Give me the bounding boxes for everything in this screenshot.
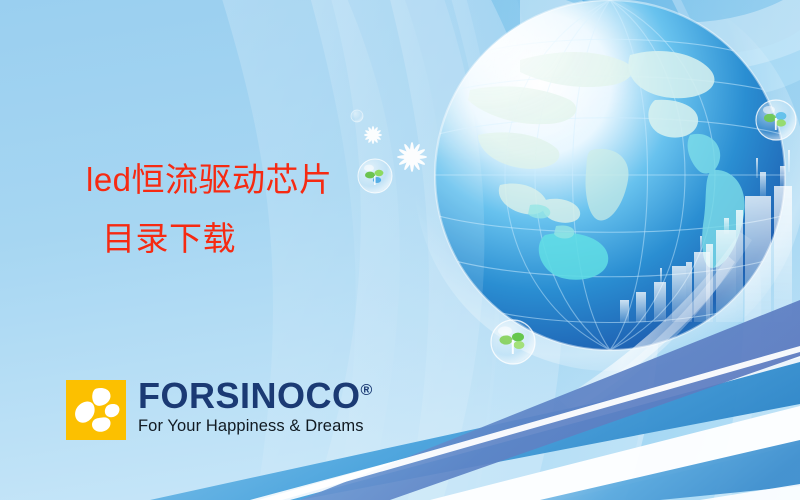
logo-wordmark: FORSINOCO® For Your Happiness & Dreams xyxy=(138,378,373,435)
brand-tagline: For Your Happiness & Dreams xyxy=(138,417,373,435)
bubble-tiny xyxy=(351,110,363,122)
four-petal-flower-icon xyxy=(66,380,126,440)
brand-name: FORSINOCO® xyxy=(138,378,373,414)
brand-logo-lockup: FORSINOCO® For Your Happiness & Dreams xyxy=(66,380,373,440)
bubble-pinwheel-center xyxy=(491,320,535,364)
slide-canvas: led恒流驱动芯片 目录下载 FORSINOCO® For Your Happi… xyxy=(0,0,800,500)
logo-mark-icon xyxy=(66,380,126,440)
brand-name-text: FORSINOCO xyxy=(138,375,361,416)
bubble-pinwheel-left xyxy=(358,159,392,193)
bubble-pinwheel-right xyxy=(756,100,796,140)
registered-trademark-icon: ® xyxy=(361,382,373,399)
